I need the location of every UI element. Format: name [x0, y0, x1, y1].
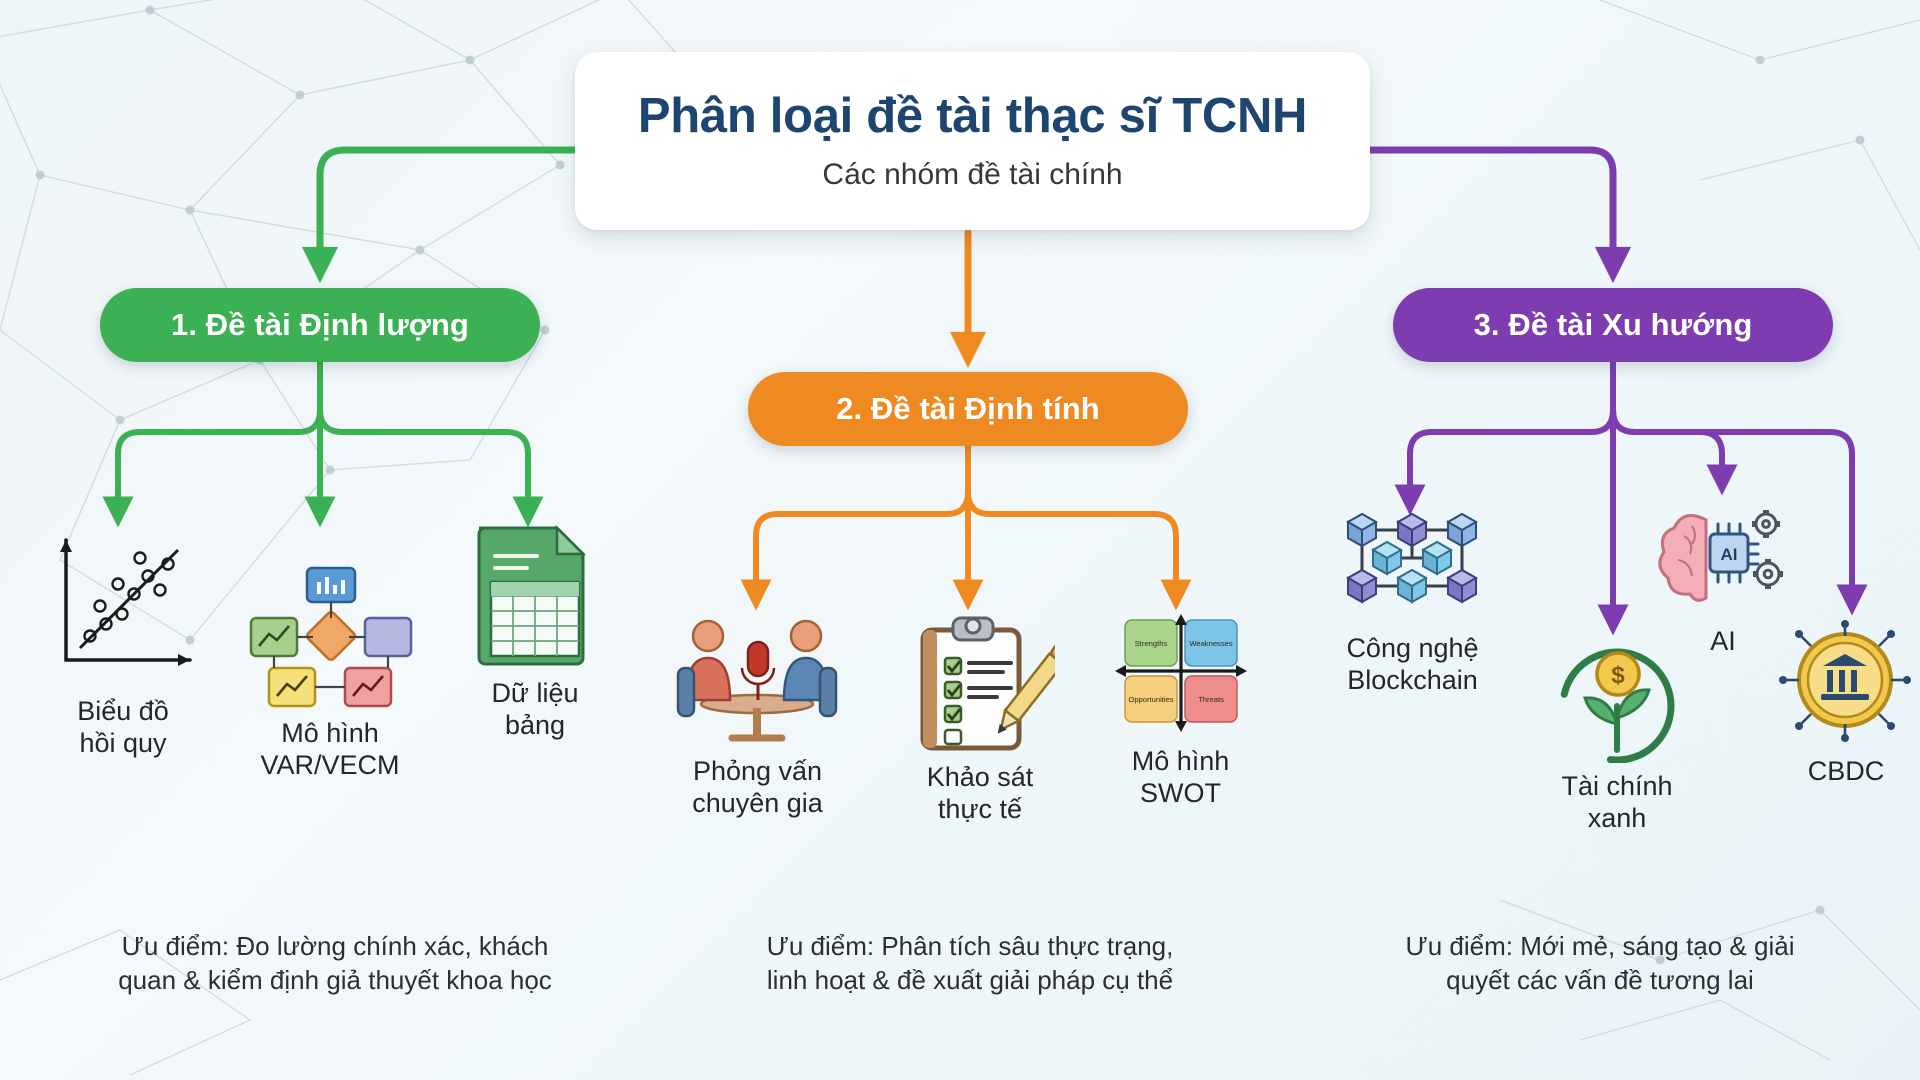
item-regression-chart[interactable]: Biểu đồ hồi quy [18, 528, 228, 760]
var-vecm-model-diagram-icon [245, 560, 415, 710]
swot-opportunities-label: Opportunities [1128, 695, 1173, 704]
branch-note-trending: Ưu điểm: Mới mẻ, sáng tạo & giải quyết c… [1320, 930, 1880, 998]
swot-strengths-label: Strengths [1134, 639, 1167, 648]
ai-brain-chip-icon: AI [1658, 498, 1788, 618]
title-card: Phân loại đề tài thạc sĩ TCNH Các nhóm đ… [575, 52, 1370, 230]
item-caption: Công nghệ Blockchain [1346, 633, 1478, 697]
item-caption: Biểu đồ hồi quy [77, 696, 169, 760]
clipboard-survey-icon [905, 612, 1055, 754]
branch-pill-qualitative[interactable]: 2. Đề tài Định tính [748, 372, 1188, 446]
item-caption: Khảo sát thực tế [927, 762, 1034, 826]
expert-interview-icon [670, 608, 845, 748]
swot-matrix-icon: Strengths Weaknesses Opportunities Threa… [1111, 608, 1251, 738]
branch-pill-quantitative[interactable]: 1. Đề tài Định lượng [100, 288, 540, 362]
item-caption: Dữ liệu bảng [491, 678, 578, 742]
swot-weaknesses-label: Weaknesses [1189, 639, 1233, 648]
item-caption: CBDC [1808, 756, 1885, 788]
ai-chip-label: AI [1721, 545, 1738, 564]
item-green-finance[interactable]: $ Tài chính xanh [1537, 638, 1697, 835]
item-cbdc[interactable]: CBDC [1766, 618, 1920, 788]
spreadsheet-table-icon [465, 520, 605, 670]
scatter-plot-regression-icon [48, 528, 198, 688]
item-panel-data[interactable]: Dữ liệu bảng [435, 520, 635, 742]
branch-note-quantitative: Ưu điểm: Đo lường chính xác, khách quan … [55, 930, 615, 998]
item-var-vecm-model[interactable]: Mô hình VAR/VECM [215, 560, 445, 782]
item-caption: AI [1710, 626, 1736, 658]
item-expert-interview[interactable]: Phỏng vấn chuyên gia [650, 608, 865, 820]
item-swot-model[interactable]: Strengths Weaknesses Opportunities Threa… [1093, 608, 1268, 810]
blockchain-network-icon [1330, 500, 1495, 625]
page-title: Phân loại đề tài thạc sĩ TCNH [638, 90, 1307, 144]
cbdc-digital-coin-icon [1779, 618, 1914, 748]
branch-pill-trending[interactable]: 3. Đề tài Xu hướng [1393, 288, 1833, 362]
item-caption: Mô hình VAR/VECM [260, 718, 399, 782]
item-caption: Tài chính xanh [1561, 771, 1672, 835]
swot-threats-label: Threats [1198, 695, 1224, 704]
item-caption: Mô hình SWOT [1132, 746, 1230, 810]
item-blockchain[interactable]: Công nghệ Blockchain [1310, 500, 1515, 697]
svg-text:$: $ [1611, 662, 1625, 689]
item-field-survey[interactable]: Khảo sát thực tế [880, 612, 1080, 826]
item-caption: Phỏng vấn chuyên gia [692, 756, 823, 820]
branch-note-qualitative: Ưu điểm: Phân tích sâu thực trạng, linh … [690, 930, 1250, 998]
page-subtitle: Các nhóm đề tài chính [822, 158, 1122, 192]
